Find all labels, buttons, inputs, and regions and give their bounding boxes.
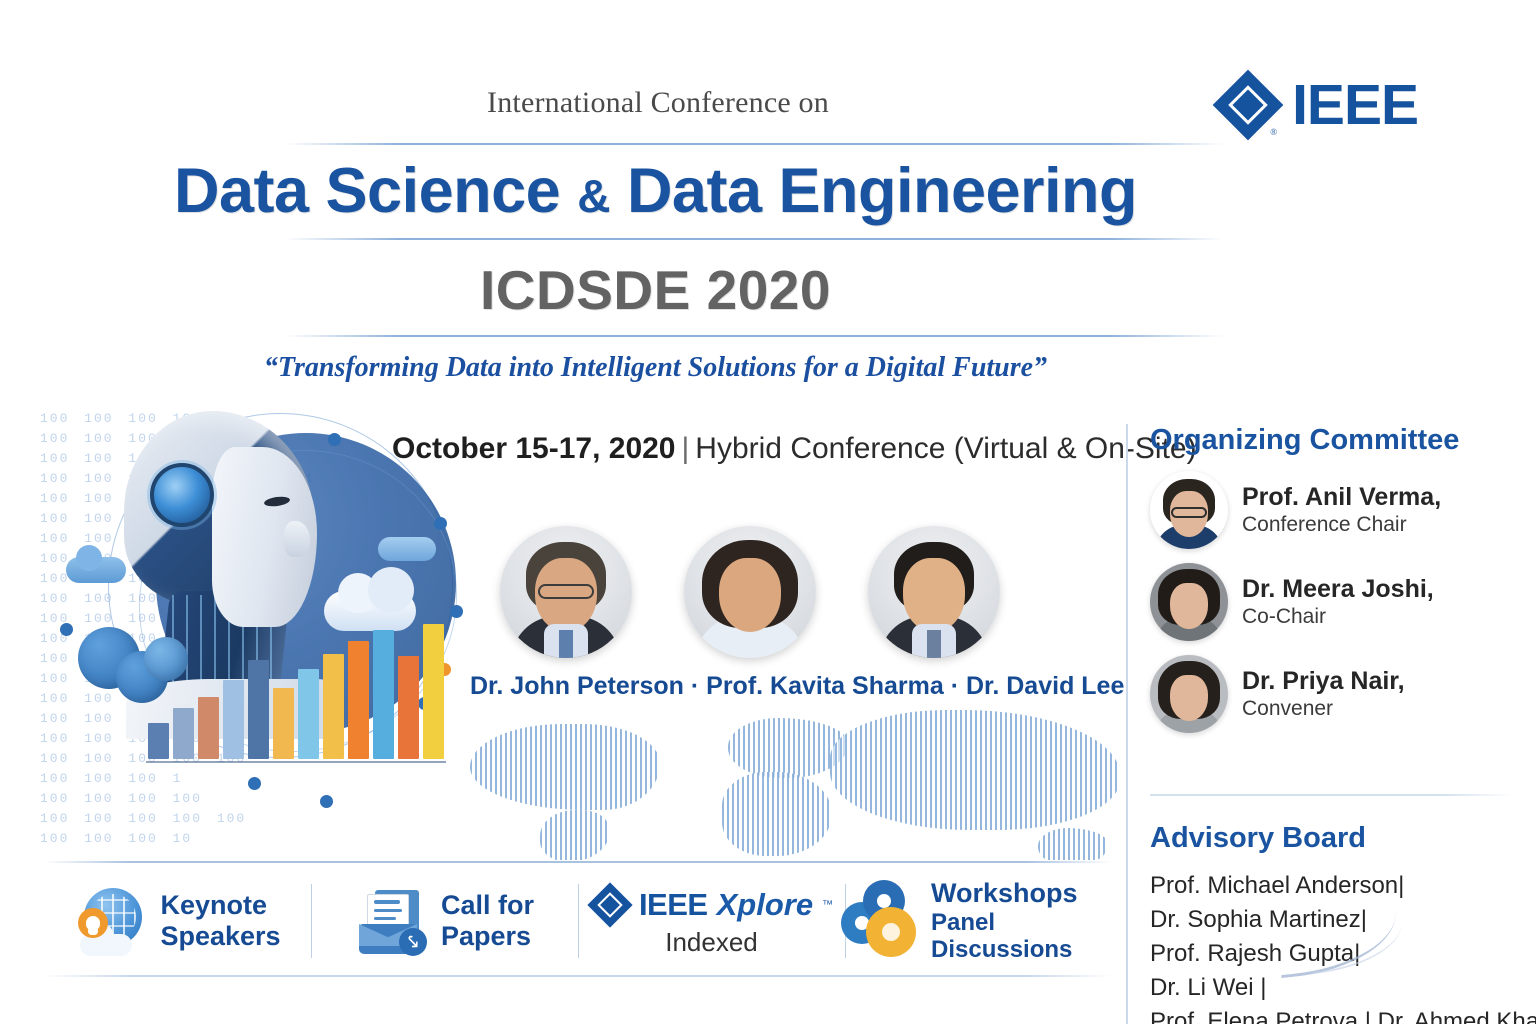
speaker-photo-row <box>470 526 1030 658</box>
registered-mark: ® <box>1270 127 1277 137</box>
feature-workshops[interactable]: Workshops Panel Discussions <box>845 868 1112 974</box>
avatar-meera-joshi <box>1150 563 1228 641</box>
avatar-priya-nair <box>1150 655 1228 733</box>
hero-graphic: 100 100 100 100 10100 100 100 100 100 11… <box>38 405 478 855</box>
title-part-2: Data Engineering <box>627 156 1137 226</box>
member-role: Co-Chair <box>1242 605 1326 628</box>
xplore-indexed-label: Indexed <box>665 927 758 958</box>
member-name: Dr. Meera Joshi, <box>1242 575 1434 603</box>
bar-9 <box>348 641 369 759</box>
bar-10 <box>373 630 394 759</box>
iconbar-bottom-divider <box>44 975 1112 977</box>
xplore-brand-word: Xplore <box>717 887 813 923</box>
network-node <box>434 517 447 530</box>
conference-tagline: “Transforming Data into Intelligent Solu… <box>0 352 1536 384</box>
robot-eye-lens-icon <box>150 463 214 527</box>
member-name: Prof. Anil Verma, <box>1242 483 1441 511</box>
network-node <box>60 623 73 636</box>
bar-3 <box>198 697 219 759</box>
feature-call-for-papers[interactable]: ⤥ Call for Papers <box>311 868 578 974</box>
document-envelope-icon: ⤥ <box>355 884 429 958</box>
feature-workshops-label: Workshops Panel Discussions <box>931 878 1112 963</box>
keynote-speakers-block: Dr. John Peterson · Prof. Kavita Sharma … <box>470 526 1030 701</box>
divider-tagline <box>285 335 1223 337</box>
network-node <box>248 777 261 790</box>
advisory-board-heading: Advisory Board <box>1150 822 1536 855</box>
divider-top <box>285 143 1223 145</box>
committee-member: Dr. Meera Joshi, Co-Chair <box>1150 563 1536 641</box>
glasses-icon <box>1171 507 1207 518</box>
organizing-committee-list: Prof. Anil Verma, Conference Chair Dr. M… <box>1150 471 1536 733</box>
bar-2 <box>173 708 194 759</box>
feature-cfp-label: Call for Papers <box>441 890 534 952</box>
world-map-graphic <box>460 700 1140 860</box>
download-badge-icon: ⤥ <box>399 928 427 956</box>
committee-member: Prof. Anil Verma, Conference Chair <box>1150 471 1536 549</box>
feature-keynote-label: Keynote Speakers <box>160 890 280 952</box>
dateline-separator: | <box>676 432 696 465</box>
advisory-member: Dr. Li Wei | <box>1150 971 1536 1005</box>
network-node <box>320 795 333 808</box>
member-name: Dr. Priya Nair, <box>1242 667 1405 695</box>
page-title: Data Science & Data Engineering <box>0 158 1536 224</box>
iconbar-top-divider <box>44 861 1112 863</box>
avatar-john-peterson <box>500 526 632 658</box>
organizing-committee-heading: Organizing Committee <box>1150 424 1536 457</box>
cloud-icon <box>378 537 436 561</box>
event-format: Hybrid Conference (Virtual & On-Site) <box>695 432 1196 465</box>
trademark-mark: ™ <box>822 899 833 911</box>
bar-chart-graphic <box>148 609 444 759</box>
bar-6 <box>273 688 294 759</box>
bar-4 <box>223 680 244 759</box>
xplore-brand-ieee: IEEE <box>639 887 708 923</box>
gears-icon <box>845 884 919 958</box>
member-role: Convener <box>1242 697 1333 720</box>
avatar-david-lee <box>868 526 1000 658</box>
advisory-member: Prof. Elena Petrova | Dr. Ahmed Khan <box>1150 1005 1536 1024</box>
speaker-names: Dr. John Peterson · Prof. Kavita Sharma … <box>470 672 1030 701</box>
avatar-anil-verma <box>1150 471 1228 549</box>
committee-member: Dr. Priya Nair, Convener <box>1150 655 1536 733</box>
advisory-member: Prof. Michael Anderson| <box>1150 869 1536 903</box>
feature-keynote-speakers[interactable]: Keynote Speakers <box>44 868 311 974</box>
event-dateline: October 15-17, 2020|Hybrid Conference (V… <box>392 432 1112 466</box>
ieee-xplore-diamond-icon <box>590 885 630 925</box>
conference-acronym: ICDSDE 2020 <box>0 258 1536 322</box>
globe-speaker-icon <box>74 884 148 958</box>
divider-middle <box>285 238 1223 240</box>
bar-7 <box>298 669 319 759</box>
poster-header: ® IEEE International Conference on Data … <box>0 0 1536 400</box>
conference-poster: ® IEEE International Conference on Data … <box>0 0 1536 1024</box>
bar-5 <box>248 660 269 759</box>
bar-11 <box>398 656 419 759</box>
member-role: Conference Chair <box>1242 513 1407 536</box>
sidebar-divider <box>1150 794 1514 796</box>
bar-12 <box>423 624 444 759</box>
event-dates: October 15-17, 2020 <box>392 432 676 465</box>
network-node <box>450 605 463 618</box>
avatar-kavita-sharma <box>684 526 816 658</box>
title-ampersand: & <box>577 170 610 222</box>
intro-line: International Conference on <box>0 86 1536 120</box>
title-part-1: Data Science <box>174 156 560 226</box>
bar-1 <box>148 723 169 759</box>
feature-icon-bar: Keynote Speakers ⤥ Call for Papers <box>44 868 1112 974</box>
bar-8 <box>323 654 344 759</box>
feature-ieee-xplore-indexed[interactable]: IEEE Xplore ™ Indexed <box>578 868 845 974</box>
glasses-icon <box>538 584 594 599</box>
